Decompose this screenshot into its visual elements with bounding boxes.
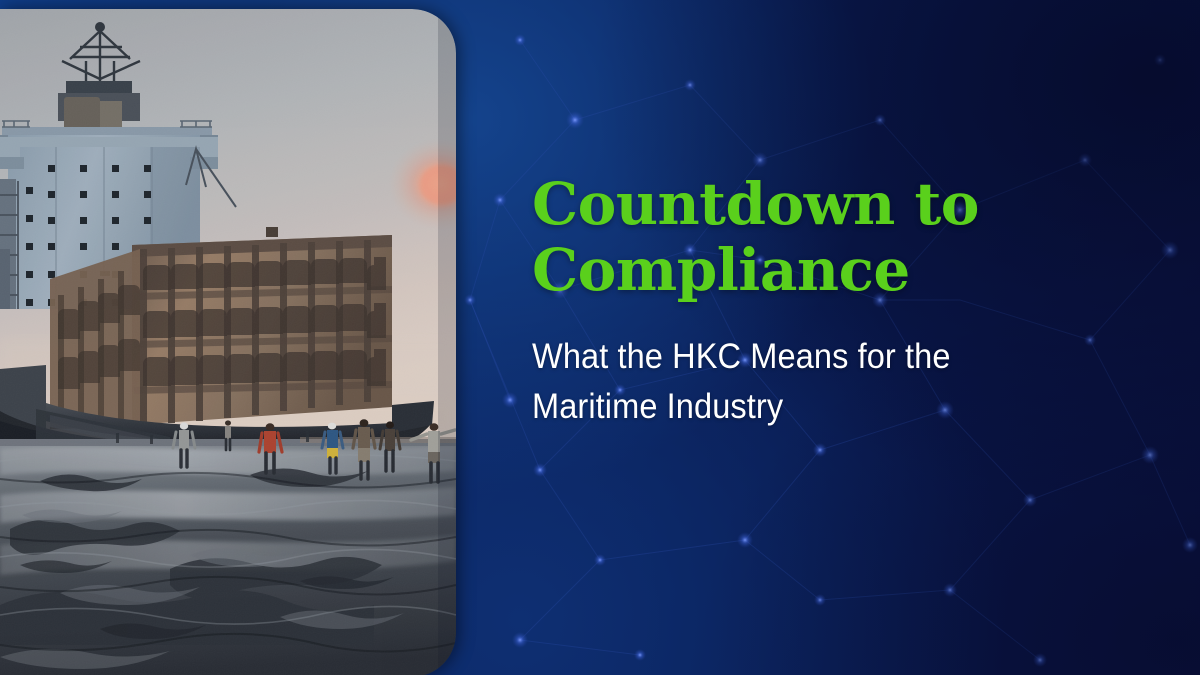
page-title: Countdown to Compliance (532, 172, 1052, 303)
headline-line-2: Compliance (532, 236, 910, 304)
headline-line-1: Countdown to (532, 170, 979, 238)
subheadline-line-2: Maritime Industry (532, 387, 783, 426)
slide-canvas: Countdown to Compliance What the HKC Mea… (0, 0, 1200, 675)
text-column: Countdown to Compliance What the HKC Mea… (532, 0, 1132, 675)
shipbreaking-photo (0, 9, 456, 675)
subheadline-line-1: What the HKC Means for the (532, 337, 951, 376)
page-subtitle: What the HKC Means for the Maritime Indu… (532, 332, 1016, 431)
